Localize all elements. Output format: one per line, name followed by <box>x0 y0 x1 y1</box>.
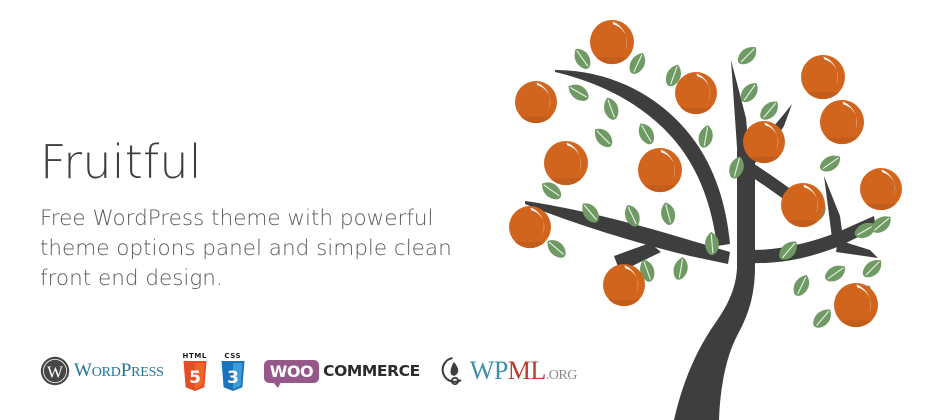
page-title: Fruitful <box>40 138 470 186</box>
orange-fruit-icon <box>515 81 557 123</box>
orange-fruit-icon <box>590 20 634 64</box>
orange-fruit-icon <box>781 183 825 227</box>
logo-wordpress-label: WORDPRESS <box>74 360 164 382</box>
wpml-drop-icon <box>438 355 468 387</box>
svg-text:3: 3 <box>227 368 239 388</box>
html5-icon: 5 <box>182 361 208 391</box>
orange-fruit-icon <box>638 148 682 192</box>
orange-fruit-icon <box>603 264 645 306</box>
orange-fruit-icon <box>860 168 902 210</box>
orange-fruit-icon <box>509 206 551 248</box>
leaf-icon <box>634 120 657 147</box>
leaf-icon <box>735 42 761 68</box>
orange-fruit-icon <box>743 121 785 163</box>
leaf-icon <box>860 255 886 281</box>
orange-fruit-icon <box>834 283 878 327</box>
hero-subtitle: Free WordPress theme with powerful theme… <box>40 204 455 294</box>
leaf-icon <box>822 261 849 286</box>
leaf-icon <box>601 95 622 121</box>
orange-tree-illustration <box>478 0 940 420</box>
leaf-icon <box>697 124 715 149</box>
leaf-icon <box>817 151 844 176</box>
orange-fruit-icon <box>544 141 588 185</box>
wordpress-icon: W <box>40 356 70 386</box>
hero-banner: Fruitful Free WordPress theme with power… <box>0 0 940 420</box>
logo-woocommerce[interactable]: WOO COMMERCE <box>264 349 420 393</box>
leaf-icon <box>590 124 616 150</box>
logo-html5[interactable]: HTML 5 <box>182 349 208 393</box>
svg-text:W: W <box>47 363 64 382</box>
hero-copy: Fruitful Free WordPress theme with power… <box>40 138 470 294</box>
leaf-icon <box>658 201 677 227</box>
logo-wordpress[interactable]: W WORDPRESS <box>40 349 164 393</box>
leaf-icon <box>565 81 592 104</box>
leaf-icon <box>757 97 782 123</box>
leaf-icon <box>570 45 595 72</box>
woocommerce-badge: WOO <box>264 360 319 383</box>
orange-fruit-icon <box>801 55 845 99</box>
css3-icon: 3 <box>220 361 246 391</box>
leaf-icon <box>791 272 813 299</box>
svg-text:5: 5 <box>189 368 201 388</box>
leaf-icon <box>810 305 835 331</box>
css3-label: CSS <box>224 352 241 360</box>
orange-fruit-icon <box>820 100 864 144</box>
logo-css3[interactable]: CSS 3 <box>220 349 246 393</box>
leaf-icon <box>672 256 690 281</box>
html5-label: HTML <box>183 352 207 360</box>
woocommerce-label: COMMERCE <box>323 362 420 380</box>
leaf-icon <box>543 236 569 261</box>
orange-fruit-icon <box>675 72 717 114</box>
